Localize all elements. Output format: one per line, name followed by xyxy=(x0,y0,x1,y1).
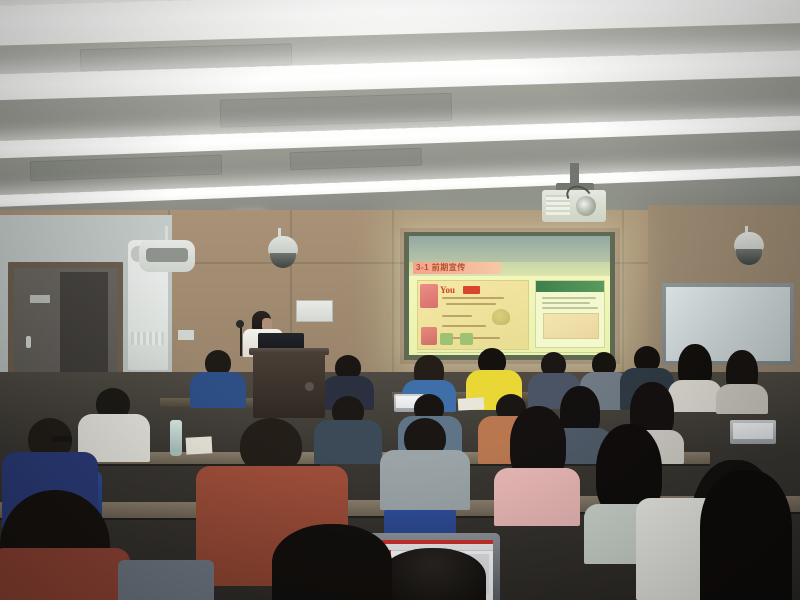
podium-microphone-stand xyxy=(240,326,242,356)
slide-poster-image: You xyxy=(417,280,529,350)
door-handle[interactable] xyxy=(26,336,31,348)
slide-side-panel xyxy=(535,280,605,348)
ceiling-recess-panel xyxy=(290,148,423,171)
person-head-foreground xyxy=(380,548,486,600)
poster-logo-text: You xyxy=(440,285,455,295)
slide-panel-text-line xyxy=(542,307,598,309)
slide-top-band xyxy=(409,236,610,262)
poster-illustration xyxy=(492,309,510,325)
person-red-shirt xyxy=(0,548,130,600)
person-hair xyxy=(700,470,792,600)
slide-panel-text-line xyxy=(542,297,596,299)
door-sign xyxy=(30,295,50,303)
laptop-screen xyxy=(733,423,773,439)
lecture-hall-photo: 3-1 前期宣传 You xyxy=(0,0,800,600)
slide-footer-line xyxy=(417,352,603,353)
ceiling-air-vent xyxy=(30,155,223,182)
slide-panel-header xyxy=(536,281,604,292)
projection-screen: 3-1 前期宣传 You xyxy=(409,236,610,355)
poster-logo-badge xyxy=(463,286,480,294)
poster-handwriting xyxy=(446,303,496,305)
podium-microphone xyxy=(236,320,244,328)
poster-handwriting xyxy=(442,315,472,317)
slide-title: 3-1 前期宣传 xyxy=(413,262,501,274)
person-dark-shirt xyxy=(314,420,382,464)
ceiling-recess-panel xyxy=(220,93,453,128)
person-white-shirt xyxy=(716,384,768,414)
paper-notes xyxy=(458,397,485,410)
poster-handwriting xyxy=(442,297,504,299)
poster-art-green xyxy=(460,333,473,345)
backpack xyxy=(118,560,214,600)
podium-control-knob[interactable] xyxy=(305,382,314,391)
air-conditioner-grill xyxy=(131,332,164,345)
wall-control-panel[interactable] xyxy=(296,300,333,322)
poster-art-left-bottom xyxy=(421,327,437,345)
person-grey-shirt xyxy=(380,450,470,510)
slide-panel-text-line xyxy=(542,302,590,304)
water-bottle[interactable] xyxy=(170,420,182,456)
poster-art-green xyxy=(440,333,453,345)
speaker-grill-icon xyxy=(146,248,188,262)
slide-body: You xyxy=(409,276,610,355)
person-blue-shirt xyxy=(190,372,246,408)
person-white-shirt xyxy=(668,380,722,412)
slide-panel-image xyxy=(543,313,599,339)
podium xyxy=(253,352,325,418)
poster-handwriting xyxy=(442,325,486,327)
person-pink-top xyxy=(494,468,580,526)
wall-outlet xyxy=(178,330,194,340)
paper-notes xyxy=(186,436,213,454)
glasses-icon xyxy=(52,436,72,442)
wall-speaker xyxy=(139,240,195,272)
poster-art-left-top xyxy=(420,284,438,308)
person-hair xyxy=(272,524,392,600)
open-laptop[interactable] xyxy=(730,420,776,444)
